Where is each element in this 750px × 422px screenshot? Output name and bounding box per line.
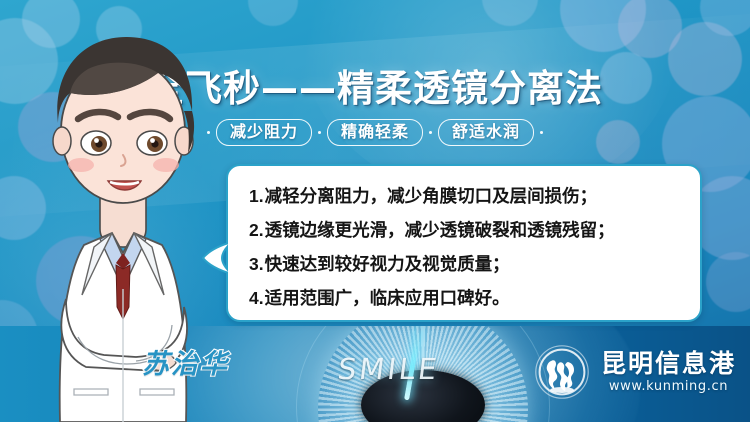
tag-reduce-resistance: 减少阻力 (216, 119, 312, 146)
list-item: 1. 减轻分离阻力，减少角膜切口及层间损伤； (249, 180, 683, 214)
doctor-signature: 苏治华 (142, 342, 229, 381)
benefits-callout-box: 1. 减轻分离阻力，减少角膜切口及层间损伤； 2. 透镜边缘更光滑，减少透镜破裂… (226, 164, 702, 322)
tag-list: 减少阻力 精确轻柔 舒适水润 (0, 119, 750, 146)
brand-name: 昆明信息港 (601, 350, 736, 378)
list-item-number: 4. (249, 282, 264, 315)
smile-label: SMILE (336, 352, 442, 386)
list-item: 3. 快速达到较好视力及视觉质量； (249, 248, 683, 282)
tag-precise-gentle: 精确轻柔 (327, 119, 423, 146)
poster-canvas: SMILE 全飞秒——精柔透镜分离法 减少阻力 精确轻柔 舒适水润 1. 减轻分… (0, 0, 750, 422)
list-item-text: 适用范围广，临床应用口碑好。 (265, 283, 510, 316)
list-item-number: 1. (249, 180, 264, 213)
benefits-list: 1. 减轻分离阻力，减少角膜切口及层间损伤； 2. 透镜边缘更光滑，减少透镜破裂… (228, 166, 700, 326)
brand-logo[interactable]: 昆明信息港 www.kunming.cn (534, 344, 736, 400)
list-item-text: 减轻分离阻力，减少角膜切口及层间损伤； (265, 181, 598, 214)
tag-separator-dot (429, 131, 432, 134)
tag-comfortable-moist: 舒适水润 (438, 119, 534, 146)
kunming-horse-emblem-icon (534, 344, 590, 400)
list-item-number: 2. (249, 214, 264, 247)
tag-separator-dot (540, 131, 543, 134)
list-item-text: 快速达到较好视力及视觉质量； (265, 249, 510, 282)
brand-text-block: 昆明信息港 www.kunming.cn (601, 350, 736, 395)
page-title: 全飞秒——精柔透镜分离法 (0, 58, 750, 112)
brand-url: www.kunming.cn (601, 378, 736, 395)
list-item-number: 3. (249, 248, 264, 281)
list-item: 2. 透镜边缘更光滑，减少透镜破裂和透镜残留； (249, 214, 683, 248)
tag-separator-dot (207, 131, 210, 134)
list-item-text: 透镜边缘更光滑，减少透镜破裂和透镜残留； (265, 215, 615, 248)
list-item: 4. 适用范围广，临床应用口碑好。 (249, 282, 683, 316)
tag-separator-dot (318, 131, 321, 134)
